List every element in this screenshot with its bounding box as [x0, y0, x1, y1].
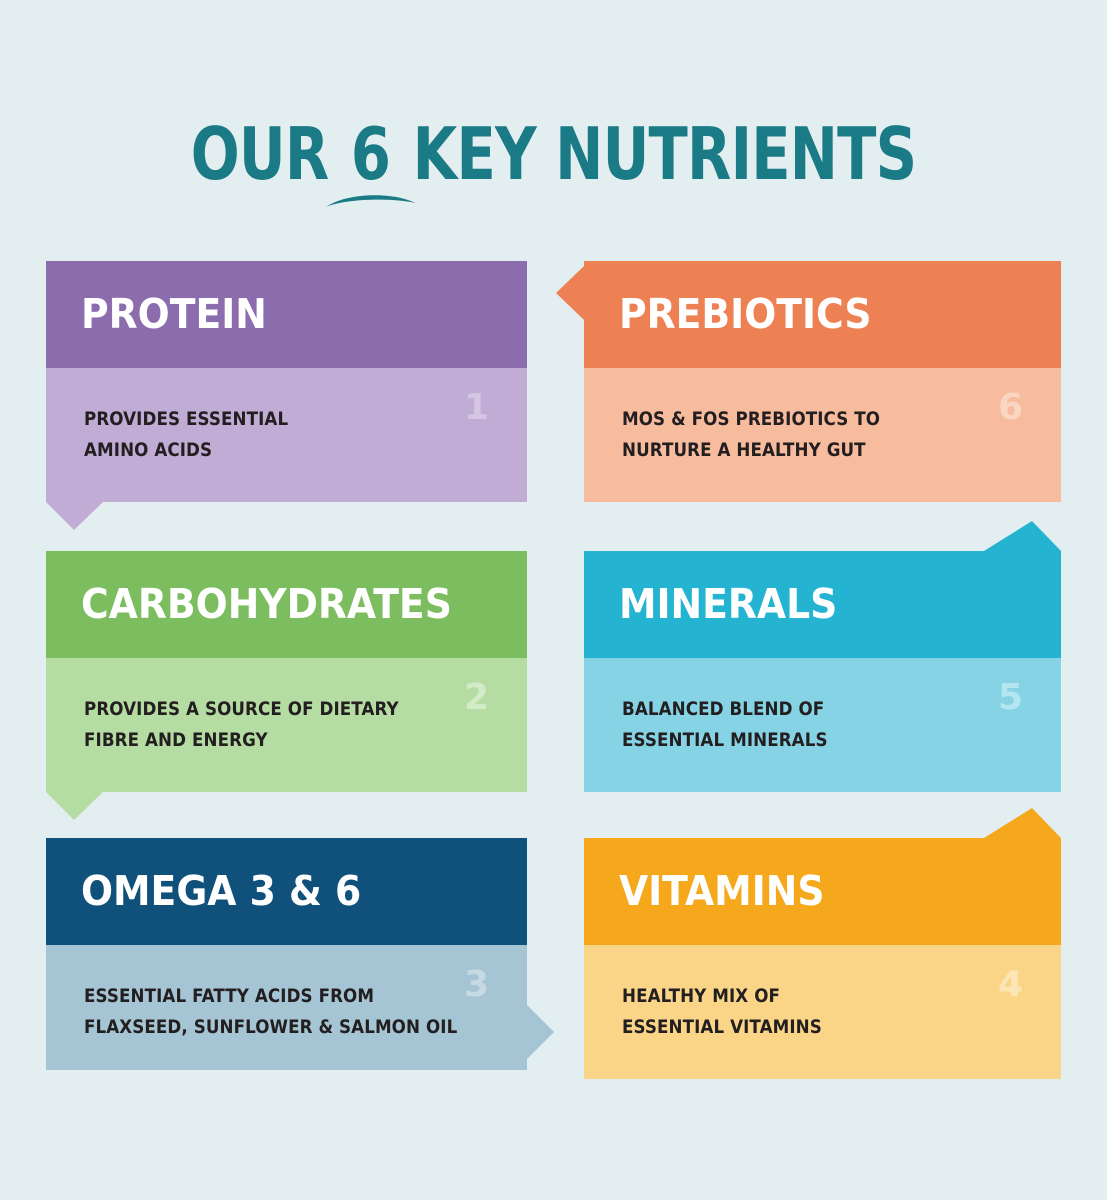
- title-prefix: OUR: [191, 112, 329, 196]
- card-number-omega: 3: [464, 967, 489, 1003]
- card-body-carbohydrates: PROVIDES A SOURCE OF DIETARY FIBRE AND E…: [46, 658, 527, 792]
- card-description-omega: ESSENTIAL FATTY ACIDS FROM FLAXSEED, SUN…: [84, 981, 457, 1043]
- infographic-root: OUR 6 KEY NUTRIENTS PROTEIN PROVIDES ESS…: [0, 0, 1107, 1200]
- title-suffix: KEY NUTRIENTS: [413, 112, 917, 196]
- page-title-text: OUR 6 KEY NUTRIENTS: [191, 118, 917, 190]
- card-body-protein: PROVIDES ESSENTIAL AMINO ACIDS 1: [46, 368, 527, 502]
- card-number-vitamins: 4: [998, 967, 1023, 1003]
- nutrient-card-prebiotics[interactable]: PREBIOTICS MOS & FOS PREBIOTICS TO NURTU…: [584, 261, 1061, 502]
- title-number-six: 6: [348, 118, 394, 190]
- nutrient-card-carbohydrates[interactable]: CARBOHYDRATES PROVIDES A SOURCE OF DIETA…: [46, 551, 527, 792]
- card-header-minerals: MINERALS: [584, 551, 1061, 658]
- card-body-vitamins: HEALTHY MIX OF ESSENTIAL VITAMINS 4: [584, 945, 1061, 1079]
- card-title-minerals: MINERALS: [584, 584, 837, 625]
- card-title-carbohydrates: CARBOHYDRATES: [46, 584, 452, 625]
- card-description-protein: PROVIDES ESSENTIAL AMINO ACIDS: [84, 404, 288, 466]
- card-number-protein: 1: [464, 390, 489, 426]
- card-title-protein: PROTEIN: [46, 294, 267, 335]
- card-description-minerals: BALANCED BLEND OF ESSENTIAL MINERALS: [622, 694, 828, 756]
- card-tail-vitamins: [984, 808, 1061, 838]
- card-number-prebiotics: 6: [998, 390, 1023, 426]
- card-number-carbohydrates: 2: [464, 680, 489, 716]
- card-description-vitamins: HEALTHY MIX OF ESSENTIAL VITAMINS: [622, 981, 822, 1043]
- card-header-carbohydrates: CARBOHYDRATES: [46, 551, 527, 658]
- nutrient-card-protein[interactable]: PROTEIN PROVIDES ESSENTIAL AMINO ACIDS 1: [46, 261, 527, 502]
- page-title: OUR 6 KEY NUTRIENTS: [0, 118, 1107, 190]
- card-description-carbohydrates: PROVIDES A SOURCE OF DIETARY FIBRE AND E…: [84, 694, 399, 756]
- card-number-minerals: 5: [998, 680, 1023, 716]
- card-header-vitamins: VITAMINS: [584, 838, 1061, 945]
- card-body-omega: ESSENTIAL FATTY ACIDS FROM FLAXSEED, SUN…: [46, 945, 527, 1070]
- card-body-prebiotics: MOS & FOS PREBIOTICS TO NURTURE A HEALTH…: [584, 368, 1061, 502]
- swoosh-underline-icon: [323, 190, 417, 210]
- card-tail-omega: [527, 1005, 554, 1059]
- card-tail-protein: [46, 502, 103, 530]
- card-title-omega: OMEGA 3 & 6: [46, 871, 361, 912]
- card-tail-prebiotics: [556, 266, 584, 320]
- nutrient-card-minerals[interactable]: MINERALS BALANCED BLEND OF ESSENTIAL MIN…: [584, 551, 1061, 792]
- card-header-omega: OMEGA 3 & 6: [46, 838, 527, 945]
- card-title-prebiotics: PREBIOTICS: [584, 294, 872, 335]
- card-tail-carbohydrates: [46, 792, 103, 820]
- card-body-minerals: BALANCED BLEND OF ESSENTIAL MINERALS 5: [584, 658, 1061, 792]
- card-tail-minerals: [984, 521, 1061, 551]
- card-header-protein: PROTEIN: [46, 261, 527, 368]
- card-header-prebiotics: PREBIOTICS: [584, 261, 1061, 368]
- card-title-vitamins: VITAMINS: [584, 871, 824, 912]
- nutrient-card-vitamins[interactable]: VITAMINS HEALTHY MIX OF ESSENTIAL VITAMI…: [584, 838, 1061, 1079]
- card-description-prebiotics: MOS & FOS PREBIOTICS TO NURTURE A HEALTH…: [622, 404, 880, 466]
- nutrient-card-omega[interactable]: OMEGA 3 & 6 ESSENTIAL FATTY ACIDS FROM F…: [46, 838, 527, 1070]
- title-number-text: 6: [351, 112, 390, 196]
